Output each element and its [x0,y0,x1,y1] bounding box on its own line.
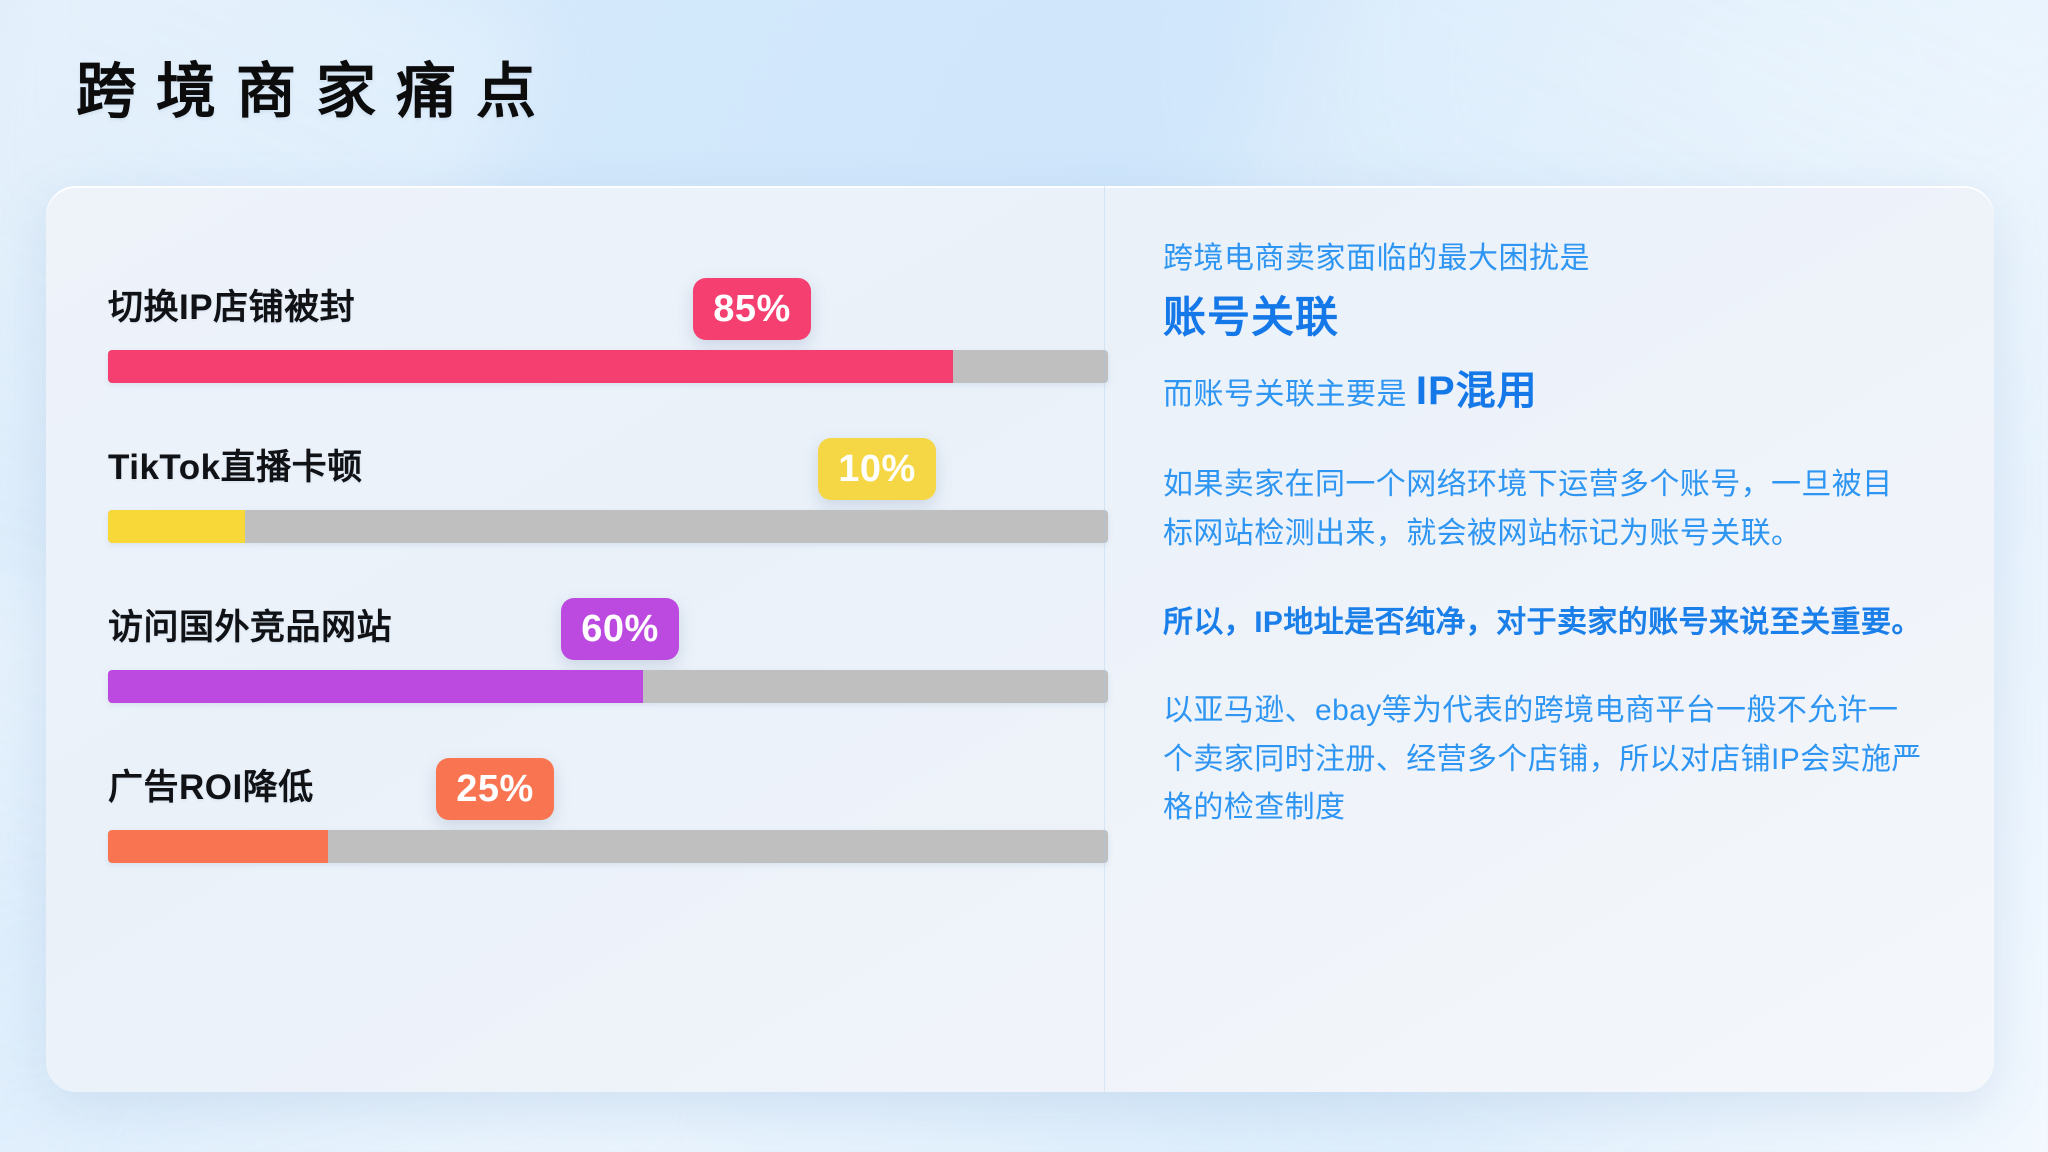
bar-fill [108,510,245,543]
bar-row: 访问国外竞品网站60% [108,574,1108,734]
bar-track [108,510,1108,543]
bar-fill [108,830,328,863]
bar-chart: 切换IP店铺被封85%TikTok直播卡顿10%访问国外竞品网站60%广告ROI… [108,254,1108,894]
info-paragraph-3: 以亚马逊、ebay等为代表的跨境电商平台一般不允许一个卖家同时注册、经营多个店铺… [1163,687,1922,833]
bar-value-badge: 60% [561,598,679,660]
bar-track [108,830,1108,863]
bar-value-badge: 10% [818,438,936,500]
info-lead-text: 跨境电商卖家面临的最大困扰是 [1163,236,1922,281]
info-paragraph-2: 所以，IP地址是否纯净，对于卖家的账号来说至关重要。 [1163,599,1922,648]
bar-row: 广告ROI降低25% [108,734,1108,894]
bar-label: TikTok直播卡顿 [108,439,363,490]
bar-header: 访问国外竞品网站60% [108,574,1108,670]
bar-row: TikTok直播卡顿10% [108,414,1108,574]
info-paragraph-1: 如果卖家在同一个网络环境下运营多个账号，一旦被目标网站检测出来，就会被网站标记为… [1163,461,1922,558]
content-card: 切换IP店铺被封85%TikTok直播卡顿10%访问国外竞品网站60%广告ROI… [46,186,1994,1092]
bar-label: 广告ROI降低 [108,759,314,810]
bar-label: 访问国外竞品网站 [108,599,392,650]
info-panel: 跨境电商卖家面临的最大困扰是 账号关联 而账号关联主要是 IP混用 如果卖家在同… [1104,186,1994,1092]
info-subline-prefix: 而账号关联主要是 [1163,378,1416,411]
bar-track [108,350,1108,383]
bar-value-badge: 25% [436,758,554,820]
info-subline-highlight: IP混用 [1416,369,1538,413]
info-subline: 而账号关联主要是 IP混用 [1163,361,1922,421]
bar-row: 切换IP店铺被封85% [108,254,1108,414]
info-headline: 账号关联 [1163,287,1922,349]
bar-fill [108,670,643,703]
bar-header: 切换IP店铺被封85% [108,254,1108,350]
bar-header: TikTok直播卡顿10% [108,414,1108,510]
bar-label: 切换IP店铺被封 [108,279,355,330]
bar-track [108,670,1108,703]
bar-value-badge: 85% [693,278,811,340]
bar-chart-panel: 切换IP店铺被封85%TikTok直播卡顿10%访问国外竞品网站60%广告ROI… [46,186,1104,1092]
bar-fill [108,350,953,383]
page-title: 跨境商家痛点 [76,62,556,122]
bar-header: 广告ROI降低25% [108,734,1108,830]
